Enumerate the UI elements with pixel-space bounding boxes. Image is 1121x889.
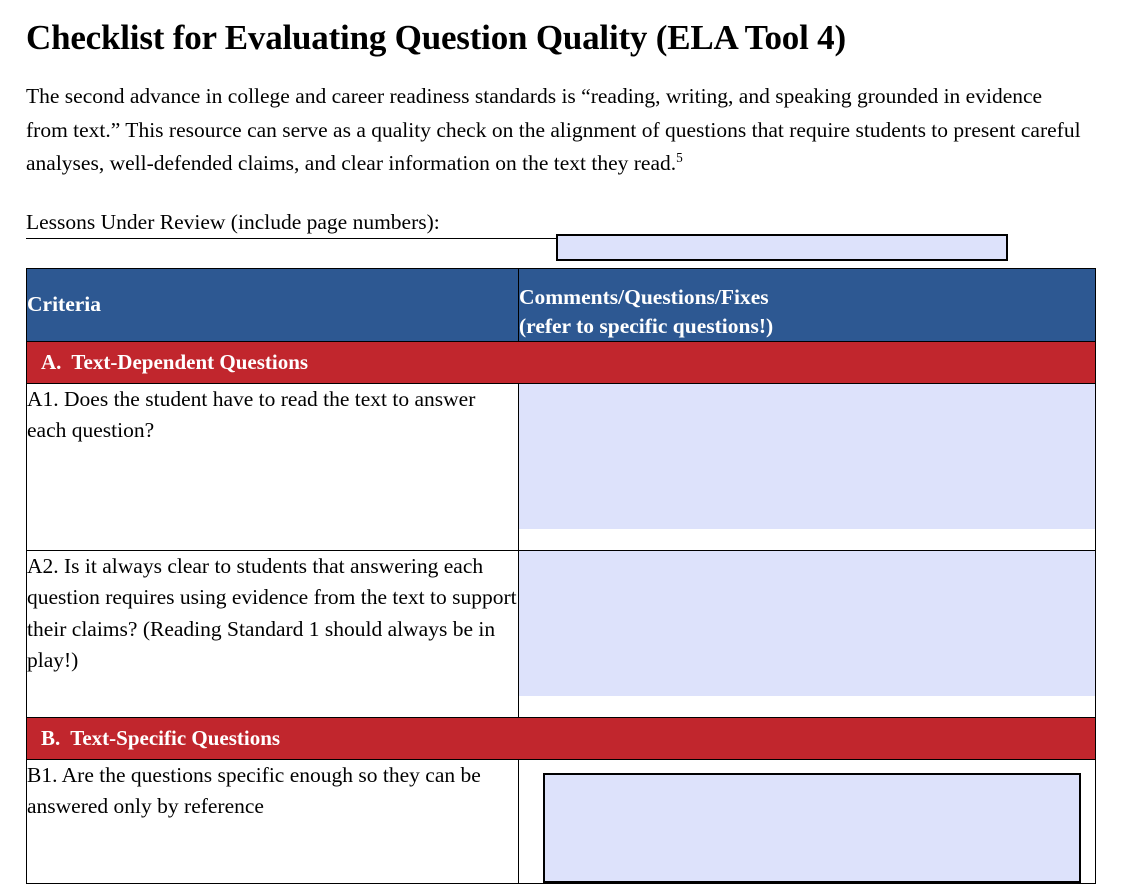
- comment-field-a2[interactable]: [519, 551, 1095, 696]
- criteria-text-b1: B1. Are the questions specific enough so…: [27, 759, 519, 883]
- table-row: A1. Does the student have to read the te…: [27, 383, 1096, 550]
- lessons-under-review-label: Lessons Under Review (include page numbe…: [26, 207, 440, 239]
- comment-field-b1[interactable]: [543, 773, 1081, 883]
- section-letter-b: B.: [41, 726, 60, 750]
- column-header-comments-line2: (refer to specific questions!): [519, 312, 1095, 341]
- section-header-a: A.Text-Dependent Questions: [27, 341, 1096, 383]
- comments-cell-a2: [519, 550, 1096, 717]
- section-header-row-a: A.Text-Dependent Questions: [27, 341, 1096, 383]
- column-header-comments-line1: Comments/Questions/Fixes: [519, 283, 1095, 312]
- section-title-a: Text-Dependent Questions: [71, 350, 308, 374]
- table-row: B1. Are the questions specific enough so…: [27, 759, 1096, 883]
- column-header-comments: Comments/Questions/Fixes (refer to speci…: [519, 268, 1096, 341]
- section-title-b: Text-Specific Questions: [70, 726, 280, 750]
- table-header-row: Criteria Comments/Questions/Fixes (refer…: [27, 268, 1096, 341]
- footnote-marker: 5: [676, 150, 683, 165]
- comment-field-a1[interactable]: [519, 384, 1095, 529]
- document-page: Checklist for Evaluating Question Qualit…: [0, 0, 1121, 889]
- checklist-table: Criteria Comments/Questions/Fixes (refer…: [26, 268, 1096, 884]
- intro-paragraph-text: The second advance in college and career…: [26, 84, 1081, 175]
- comments-cell-b1: [519, 759, 1096, 883]
- lessons-under-review-input[interactable]: [556, 234, 1008, 261]
- section-header-row-b: B.Text-Specific Questions: [27, 717, 1096, 759]
- page-title: Checklist for Evaluating Question Qualit…: [0, 0, 1121, 58]
- section-letter-a: A.: [41, 350, 61, 374]
- column-header-criteria: Criteria: [27, 268, 519, 341]
- table-row: A2. Is it always clear to students that …: [27, 550, 1096, 717]
- lessons-under-review-row: Lessons Under Review (include page numbe…: [0, 181, 1121, 239]
- section-header-b: B.Text-Specific Questions: [27, 717, 1096, 759]
- criteria-text-a1: A1. Does the student have to read the te…: [27, 383, 519, 550]
- intro-paragraph: The second advance in college and career…: [0, 58, 1121, 181]
- criteria-text-a2: A2. Is it always clear to students that …: [27, 550, 519, 717]
- comments-cell-a1: [519, 383, 1096, 550]
